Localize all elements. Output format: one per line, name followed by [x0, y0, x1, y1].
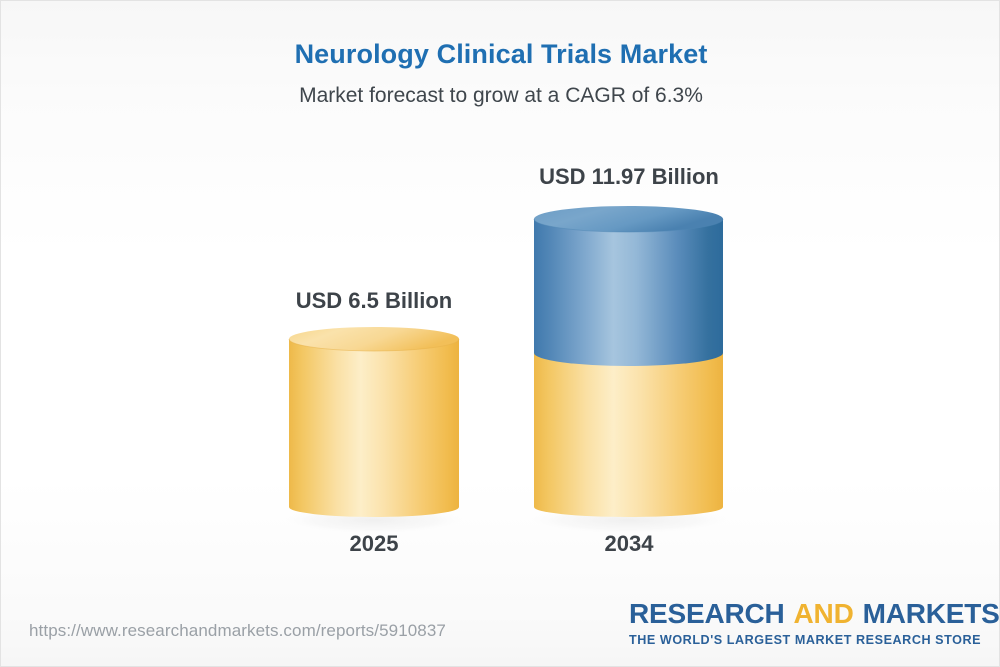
chart-plot-area: [1, 1, 1000, 667]
logo-word-and: AND: [794, 598, 854, 629]
research-and-markets-logo[interactable]: RESEARCHANDMARKETS THE WORLD'S LARGEST M…: [629, 599, 979, 648]
logo-wordmark: RESEARCHANDMARKETS: [629, 599, 979, 629]
chart-canvas: Neurology Clinical Trials Market Market …: [0, 0, 1000, 667]
source-url[interactable]: https://www.researchandmarkets.com/repor…: [29, 621, 446, 641]
logo-word-markets: MARKETS: [863, 598, 1000, 629]
bar-2025-category-label: 2025: [254, 531, 494, 557]
bar-2025-cylinder-body: [289, 339, 459, 517]
logo-tagline: THE WORLD'S LARGEST MARKET RESEARCH STOR…: [629, 632, 979, 648]
bar-2025-value-label: USD 6.5 Billion: [254, 288, 494, 314]
cylinder-bar-chart-svg: [1, 1, 1000, 667]
bar-2034-category-label: 2034: [509, 531, 749, 557]
logo-word-research: RESEARCH: [629, 598, 785, 629]
bar-2034-value-label: USD 11.97 Billion: [509, 164, 749, 190]
bar-2025[interactable]: [282, 327, 466, 534]
bar-2034[interactable]: [527, 206, 731, 534]
bar-2034-blue-segment: [534, 219, 723, 366]
bar-2034-gold-segment: [534, 353, 723, 517]
